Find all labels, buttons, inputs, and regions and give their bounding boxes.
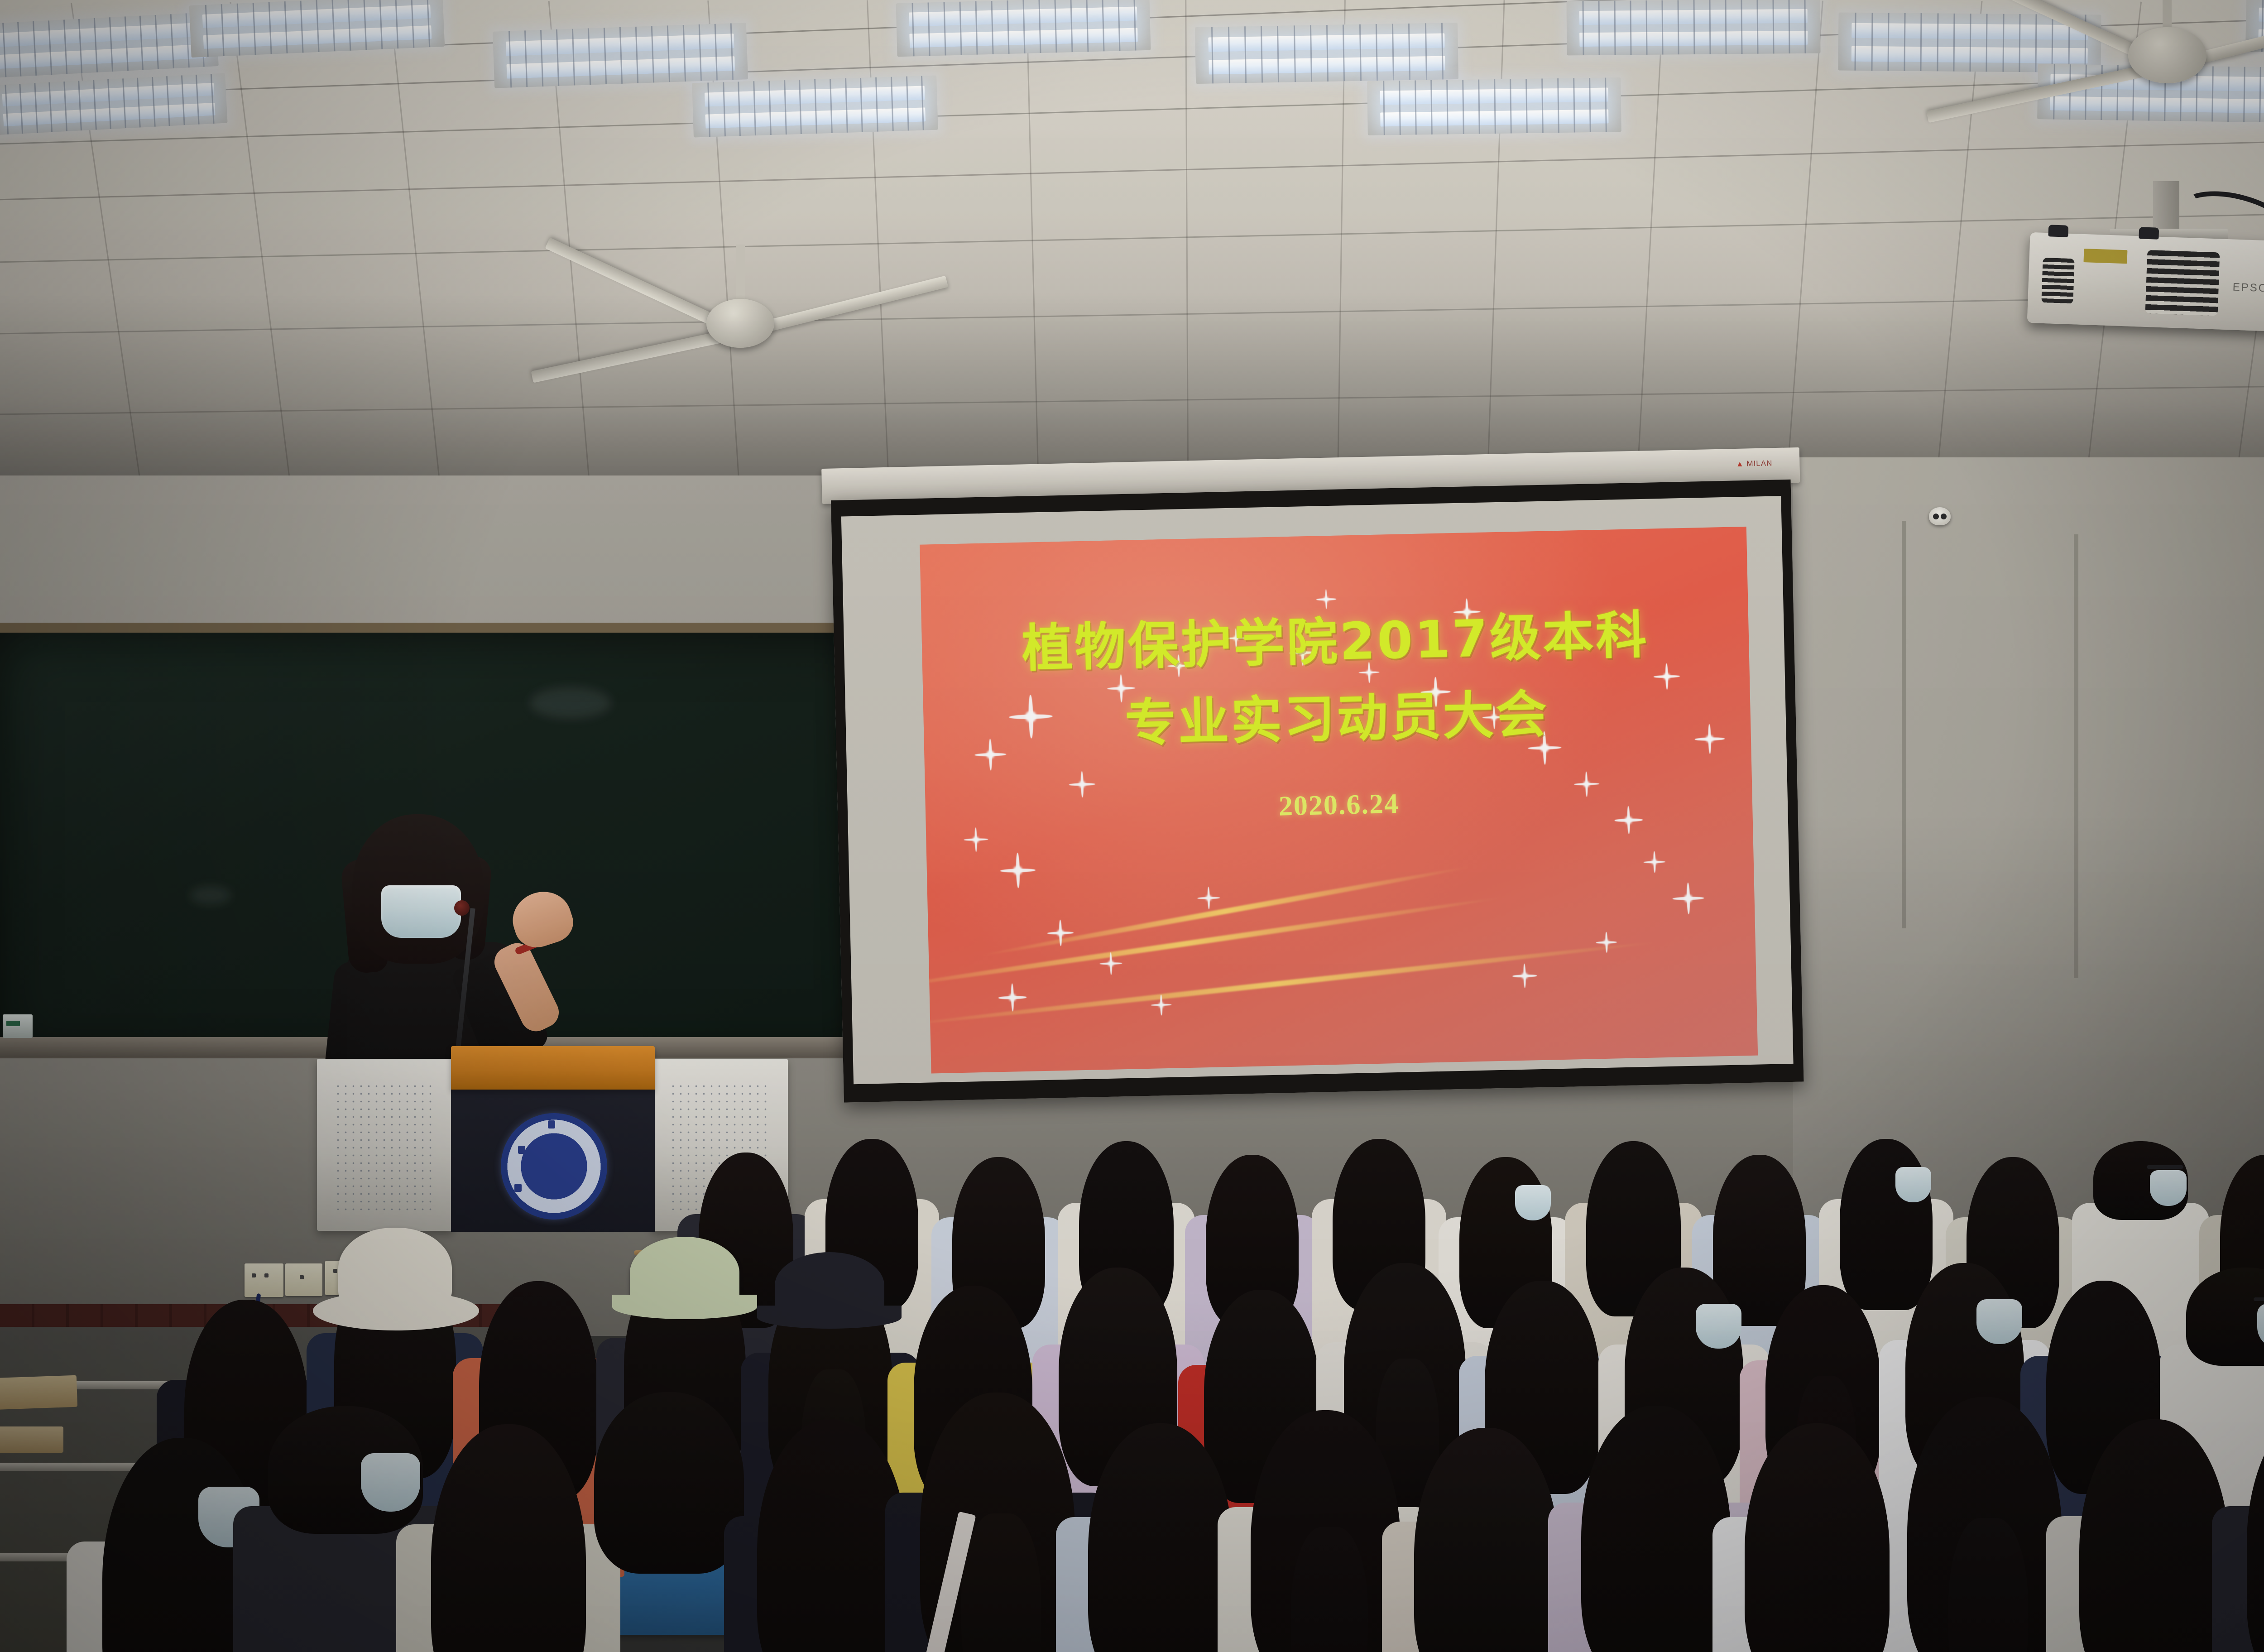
ceiling-light	[1195, 23, 1458, 84]
slide-gold-ribbon	[920, 895, 1504, 993]
slide-sparkle-icon	[1643, 851, 1665, 873]
face-mask-icon	[361, 1453, 420, 1512]
ceiling	[0, 0, 2264, 534]
face-mask-icon	[2150, 1170, 2186, 1206]
ceiling-tile-grid	[0, 0, 2264, 534]
slide-sparkle-icon	[1672, 882, 1705, 915]
eyeglasses-icon	[2147, 1165, 2183, 1169]
face-mask-icon	[1696, 1304, 1741, 1349]
ceiling-light	[2037, 64, 2264, 123]
face-mask-icon	[1976, 1299, 2022, 1344]
ceiling-light	[189, 0, 445, 58]
audience	[0, 1019, 2264, 1652]
slide-title-line-2: 专业实习动员大会	[923, 672, 1751, 767]
ceiling-light	[0, 12, 219, 79]
projector-warning-label	[2083, 249, 2127, 264]
face-mask-icon	[381, 885, 461, 938]
ceiling-light	[896, 0, 1151, 57]
slide-decoration-layer	[920, 527, 1746, 545]
slide-sparkle-icon	[963, 827, 988, 852]
slide-title-line-1: 植物保护学院2017级本科	[1021, 606, 1649, 678]
person-hair	[594, 1392, 744, 1574]
slide-title: 植物保护学院2017级本科 专业实习动员大会	[921, 595, 1751, 767]
person-ponytail	[1948, 1518, 2029, 1652]
slide-sparkle-icon	[1512, 963, 1537, 988]
dome-camera-icon	[1929, 507, 1951, 525]
ceiling-light	[493, 23, 748, 88]
wall-conduit	[1902, 521, 1906, 928]
slide-sparkle-icon	[1197, 887, 1220, 910]
person-hair	[757, 1419, 907, 1652]
face-mask-icon	[1515, 1185, 1551, 1220]
lecture-hall-photo: EPSON ▲ MILAN 植物保护学院2017级本科 专业实习动员大会 202…	[0, 0, 2264, 1652]
projector-foot	[2139, 227, 2159, 240]
projector-foot	[2048, 225, 2068, 237]
slide-sparkle-icon	[1151, 994, 1172, 1016]
fan-blade	[545, 238, 743, 338]
person-hair	[1581, 1406, 1731, 1652]
chalk-smudge	[190, 886, 231, 904]
fan-blade	[1927, 61, 2168, 123]
screen-brand-logo: ▲ MILAN	[1736, 459, 1773, 469]
fan-downrod	[2163, 0, 2172, 32]
ceiling-light	[1367, 77, 1621, 135]
slide-sparkle-icon	[1069, 771, 1095, 798]
baseball-cap	[775, 1252, 884, 1319]
presentation-slide: 植物保护学院2017级本科 专业实习动员大会 2020.6.24	[920, 527, 1758, 1074]
ceiling-projector: EPSON	[2027, 232, 2264, 334]
person-ponytail	[961, 1513, 1041, 1652]
fan-motor-housing	[2128, 27, 2206, 83]
projector-brand-label: EPSON	[2232, 281, 2264, 295]
projection-screen: 植物保护学院2017级本科 专业实习动员大会 2020.6.24	[831, 480, 1804, 1103]
slide-sparkle-icon	[1047, 920, 1074, 946]
ceiling-light	[1838, 12, 2101, 72]
baseball-cap	[630, 1237, 739, 1309]
chalk-smudge	[530, 687, 611, 719]
person-hair	[1414, 1428, 1559, 1652]
fan-blade	[739, 276, 948, 339]
slide-sparkle-icon	[998, 983, 1026, 1012]
person-hair	[2186, 1268, 2264, 1366]
ceiling-light	[692, 76, 938, 138]
slide-sparkle-icon	[1596, 932, 1617, 953]
slide-gold-ribbon	[920, 940, 1655, 1028]
ceiling-light	[1566, 0, 1820, 55]
fan-blade	[2166, 1, 2264, 72]
person-hair	[1745, 1423, 1889, 1652]
wall-conduit	[2074, 534, 2078, 978]
screen-surface: 植物保护学院2017级本科 专业实习动员大会 2020.6.24	[841, 496, 1794, 1084]
ceiling-light	[2245, 0, 2264, 57]
microphone-head-icon	[454, 900, 470, 916]
fan-blade	[531, 327, 742, 383]
fan-motor-housing	[706, 299, 774, 348]
person-hair	[1088, 1423, 1233, 1652]
projector-vent-icon	[2041, 258, 2074, 304]
fan-blade	[1943, 0, 2170, 72]
slide-sparkle-icon	[1000, 853, 1036, 889]
bucket-hat	[338, 1228, 452, 1313]
slide-sparkle-icon	[1099, 952, 1122, 975]
projector-vent-icon	[2145, 250, 2220, 316]
audience-member	[2259, 1395, 2264, 1652]
ceiling-light	[0, 73, 228, 135]
eyeglasses-icon	[2254, 1297, 2264, 1301]
projector-ceiling-mount	[2153, 181, 2179, 235]
person-ponytail	[1291, 1527, 1368, 1652]
person-hair	[2079, 1419, 2229, 1652]
face-mask-icon	[1895, 1167, 1931, 1202]
fan-downrod	[736, 245, 745, 303]
